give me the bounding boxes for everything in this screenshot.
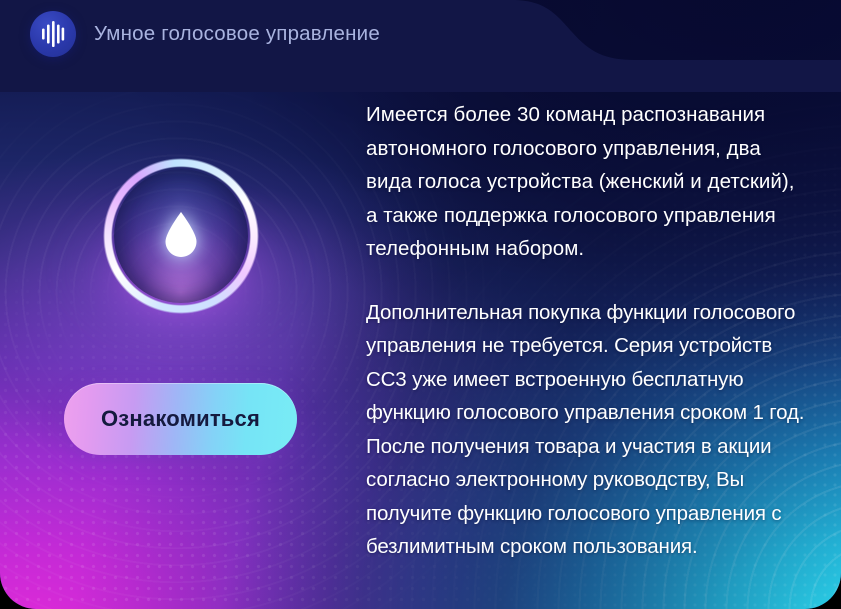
paragraph-2: Дополнительная покупка функции голосовог…: [366, 296, 808, 564]
voice-control-promo-card: Умное голосовое управление Ознакомиться …: [0, 0, 841, 609]
voice-waveform-icon: [30, 11, 76, 57]
card-header: Умное голосовое управление: [0, 0, 560, 68]
page-title: Умное голосовое управление: [94, 22, 380, 46]
paragraph-1: Имеется более 30 команд распознавания ав…: [366, 98, 808, 266]
body-copy: Имеется более 30 команд распознавания ав…: [366, 98, 808, 564]
droplet-icon: [161, 211, 201, 259]
familiarize-button[interactable]: Ознакомиться: [64, 383, 297, 455]
voice-orb-droplet-icon: [103, 158, 259, 314]
